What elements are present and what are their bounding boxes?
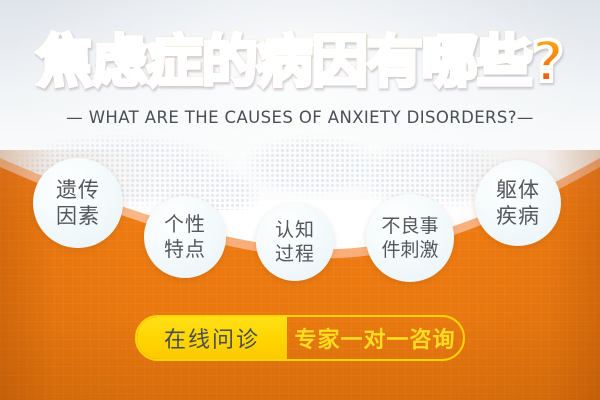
cta-bar[interactable]: 在线问诊 专家一对一咨询 <box>135 315 465 361</box>
page-title: 焦虑症的病因有哪些? <box>37 30 563 96</box>
cause-bubble-adverse-events-line2: 件刺激 <box>381 238 438 262</box>
cause-bubble-genetic-line1: 遗传 <box>56 177 100 203</box>
cause-bubble-personality-line2: 特点 <box>164 237 206 262</box>
cause-bubble-cognition-line2: 过程 <box>275 242 315 266</box>
cause-bubble-personality-line1: 个性 <box>164 212 206 237</box>
cause-bubble-cognition-line1: 认知 <box>275 218 315 242</box>
headline-container: 焦虑症的病因有哪些? <box>0 30 600 96</box>
cause-bubble-adverse-events-line1: 不良事 <box>381 214 438 238</box>
cause-bubble-genetic-line2: 因素 <box>56 203 100 229</box>
anxiety-causes-banner: 焦虑症的病因有哪些? — WHAT ARE THE CAUSES OF ANXI… <box>0 0 600 400</box>
expert-one-on-one-button[interactable]: 专家一对一咨询 <box>287 317 463 359</box>
cause-bubble-personality[interactable]: 个性 特点 <box>144 196 226 278</box>
page-subtitle: — WHAT ARE THE CAUSES OF ANXIETY DISORDE… <box>0 108 600 127</box>
cause-bubble-adverse-events[interactable]: 不良事 件刺激 <box>366 194 454 282</box>
cause-bubble-cognition[interactable]: 认知 过程 <box>256 203 334 281</box>
online-consult-button[interactable]: 在线问诊 <box>137 317 287 359</box>
cause-bubble-physical-illness-line1: 躯体 <box>496 177 540 203</box>
cause-bubble-physical-illness[interactable]: 躯体 疾病 <box>475 160 561 246</box>
cause-bubble-physical-illness-line2: 疾病 <box>496 203 540 229</box>
cause-bubble-genetic[interactable]: 遗传 因素 <box>33 158 123 248</box>
